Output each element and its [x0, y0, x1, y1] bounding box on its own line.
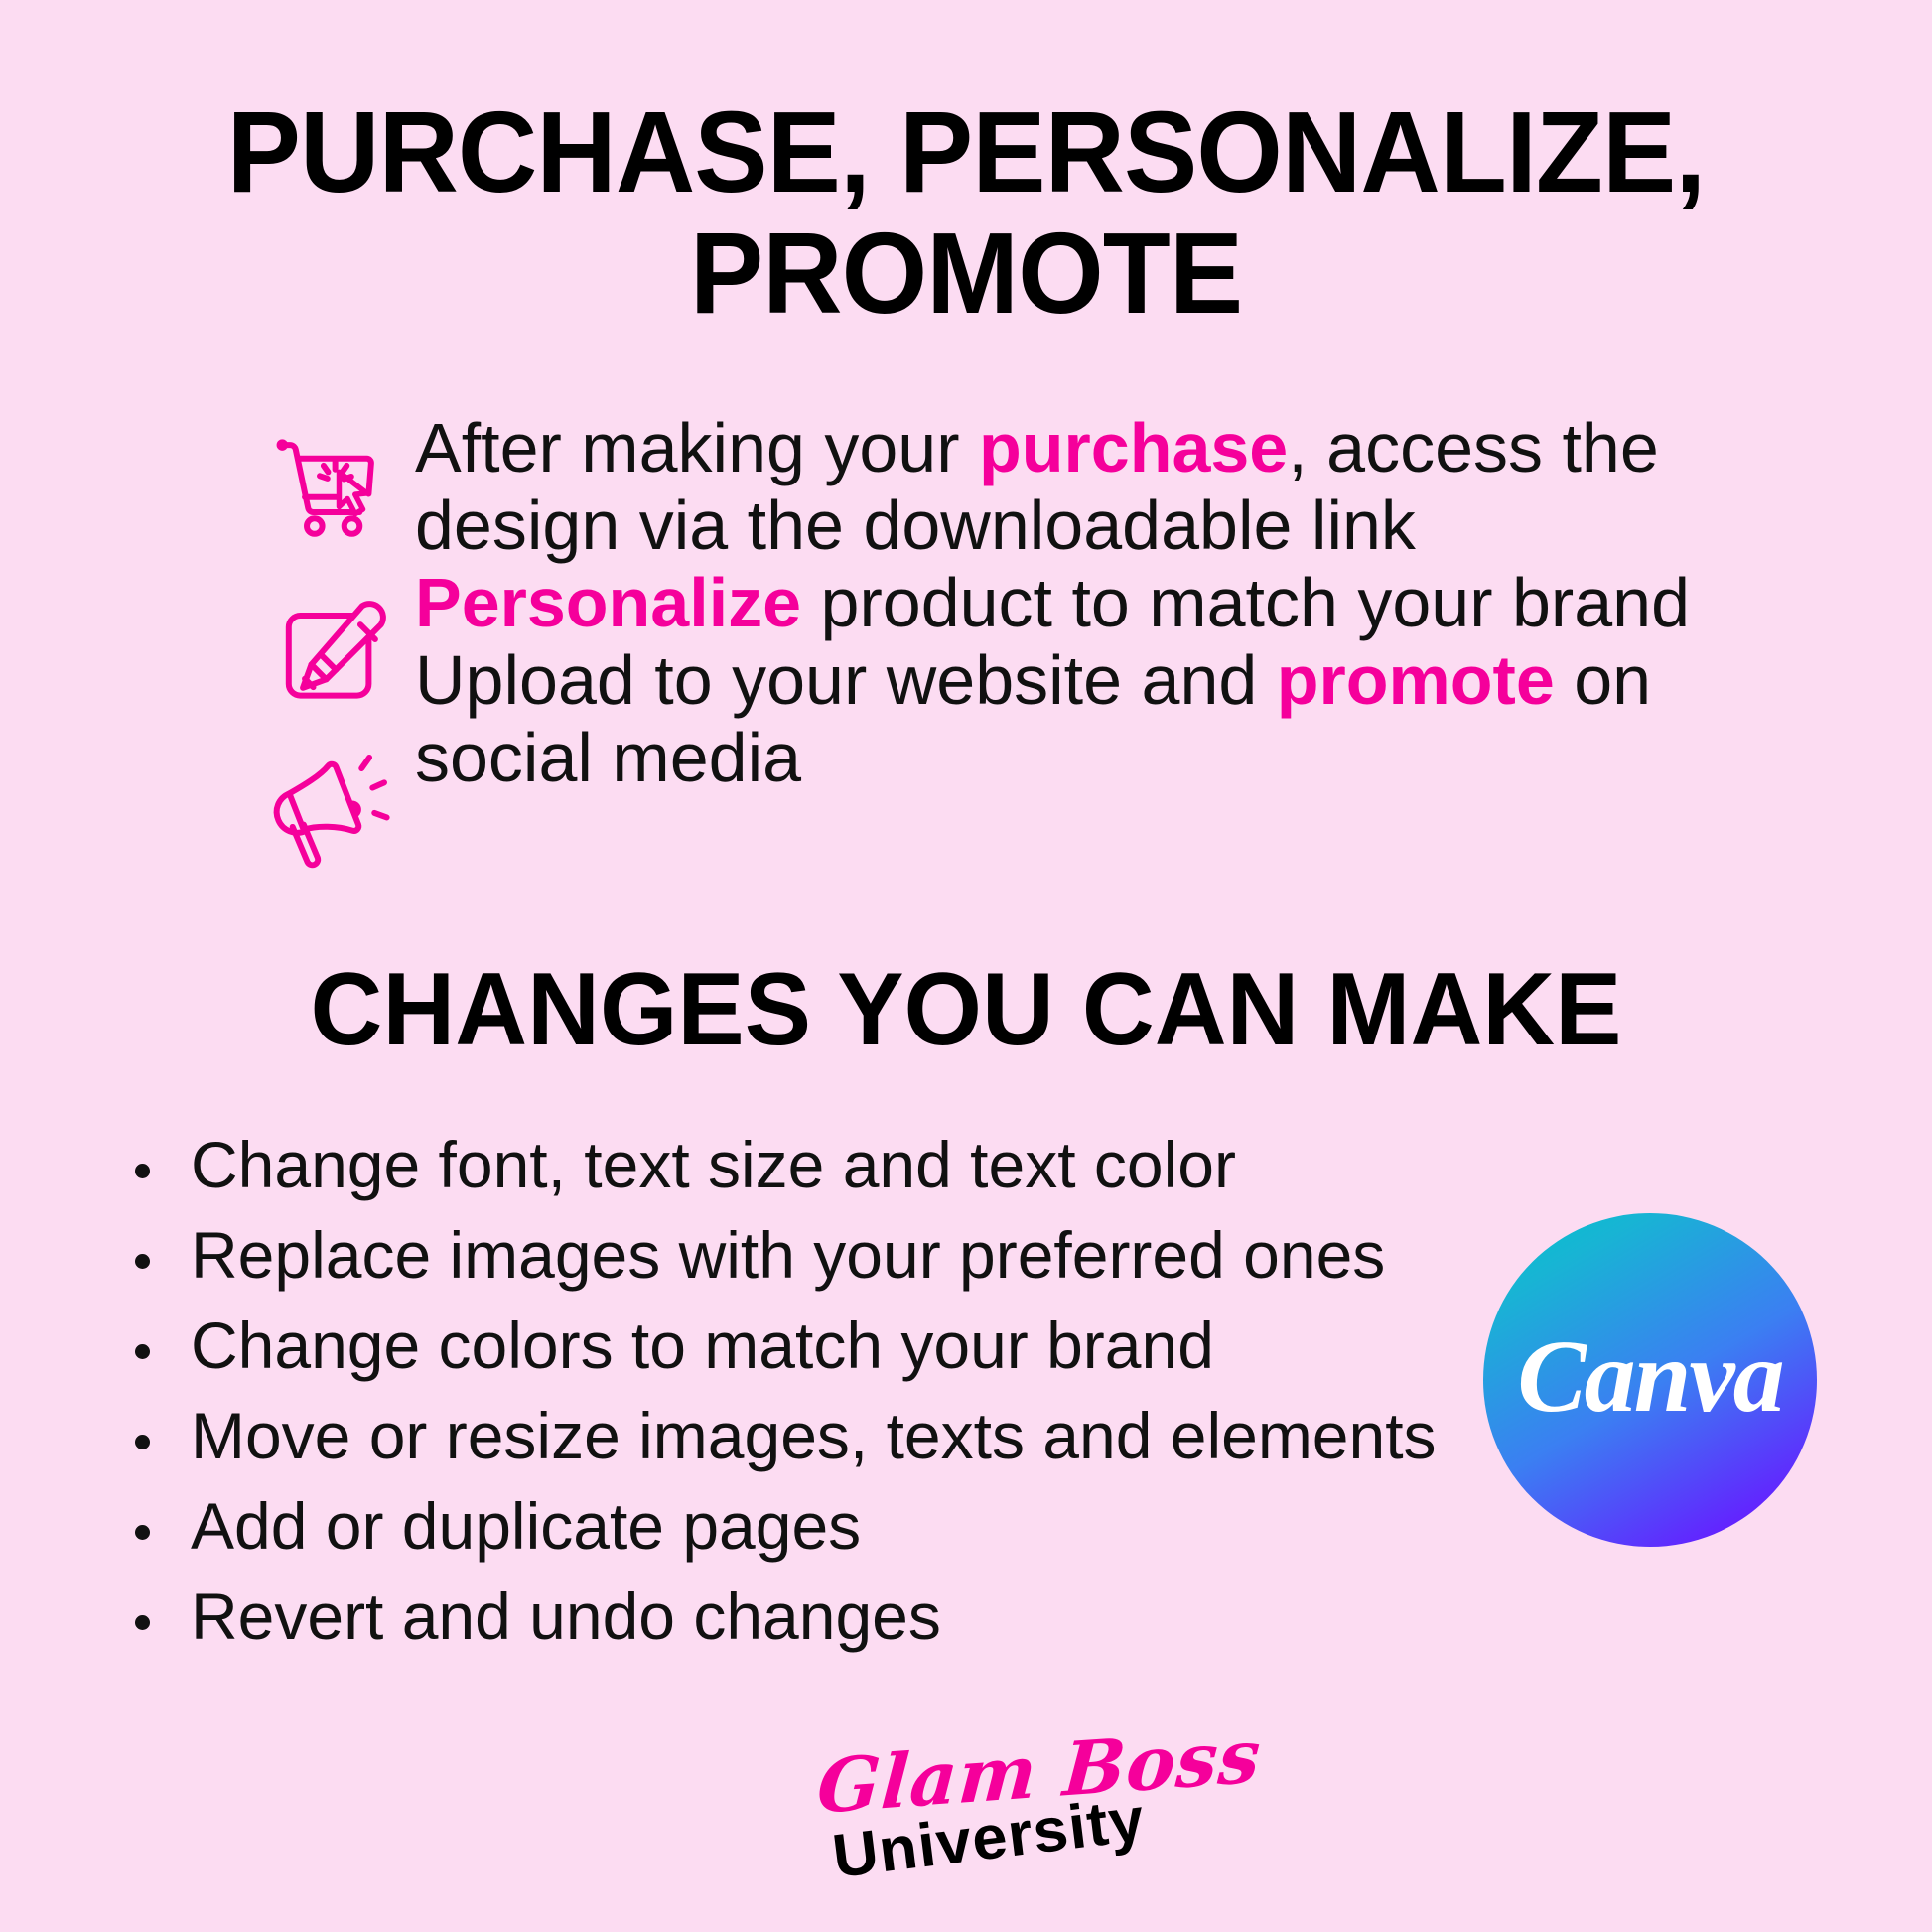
- page-title-line-1: PURCHASE, PERSONALIZE,: [210, 91, 1723, 212]
- list-item: Revert and undo changes: [129, 1572, 1440, 1662]
- steps-paragraph-column: After making your purchase, access the d…: [415, 409, 1706, 796]
- list-item: Replace images with your preferred ones: [129, 1210, 1440, 1301]
- step-text: Upload to your website and: [415, 641, 1277, 719]
- step-highlight-personalize: Personalize: [415, 564, 801, 641]
- list-item: Add or duplicate pages: [129, 1481, 1440, 1572]
- step-text: product to match your brand: [801, 564, 1690, 641]
- list-item: Move or resize images, texts and element…: [129, 1391, 1440, 1481]
- step-paragraph-purchase: After making your purchase, access the d…: [415, 409, 1706, 564]
- list-item: Change colors to match your brand: [129, 1301, 1440, 1391]
- glam-boss-university-logo: Glam Boss University: [817, 1729, 1135, 1898]
- canva-logo: Canva: [1483, 1213, 1817, 1547]
- section-heading-changes: CHANGES YOU CAN MAKE: [203, 955, 1729, 1064]
- shopping-cart-click-icon: [268, 423, 397, 552]
- step-paragraph-personalize: Personalize product to match your brand: [415, 564, 1706, 641]
- page-title: PURCHASE, PERSONALIZE, PROMOTE: [179, 91, 1753, 334]
- pencil-edit-icon: [268, 590, 397, 719]
- list-item: Change font, text size and text color: [129, 1120, 1440, 1210]
- canva-logo-text: Canva: [1517, 1317, 1782, 1436]
- step-highlight-purchase: purchase: [979, 409, 1288, 486]
- page-title-line-2: PROMOTE: [210, 212, 1723, 334]
- megaphone-icon: [268, 745, 397, 874]
- step-highlight-promote: promote: [1277, 641, 1555, 719]
- changes-list: Change font, text size and text color Re…: [129, 1120, 1440, 1662]
- step-paragraph-promote: Upload to your website and promote on so…: [415, 641, 1706, 796]
- step-text: After making your: [415, 409, 979, 486]
